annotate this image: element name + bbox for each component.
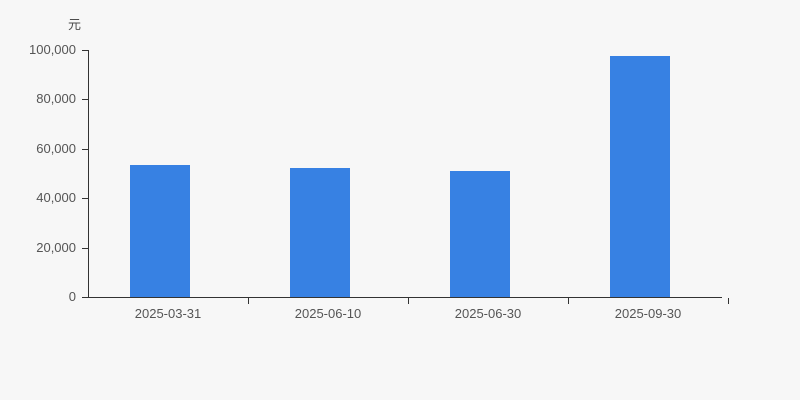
y-axis-tick	[82, 149, 88, 150]
y-axis-tick-label: 100,000	[29, 43, 76, 57]
y-axis-tick	[82, 50, 88, 51]
x-axis-tick	[728, 298, 729, 304]
x-axis-tick-label: 2025-03-31	[88, 306, 248, 322]
y-axis-tick-label: 20,000	[36, 241, 76, 255]
x-axis-tick	[568, 298, 569, 304]
y-axis-tick	[82, 297, 88, 298]
y-axis-line	[88, 50, 89, 298]
bar[interactable]	[450, 171, 510, 297]
bar[interactable]	[610, 56, 670, 297]
x-axis-tick-label: 2025-09-30	[568, 306, 728, 322]
y-axis-tick-label: 0	[69, 290, 76, 304]
bar[interactable]	[130, 165, 190, 297]
x-axis-tick	[408, 298, 409, 304]
y-axis-tick-label: 40,000	[36, 191, 76, 205]
y-axis-tick-label: 80,000	[36, 92, 76, 106]
y-axis-unit-label: 元	[68, 17, 81, 33]
x-axis-tick	[248, 298, 249, 304]
y-axis-tick	[82, 248, 88, 249]
y-axis-tick-label: 60,000	[36, 142, 76, 156]
bar-chart: 元 020,00040,00060,00080,000100,000 2025-…	[0, 0, 800, 400]
x-axis-line	[88, 297, 722, 298]
bar[interactable]	[290, 168, 350, 297]
x-axis-tick-label: 2025-06-10	[248, 306, 408, 322]
y-axis-tick	[82, 99, 88, 100]
y-axis-tick	[82, 198, 88, 199]
x-axis-tick-label: 2025-06-30	[408, 306, 568, 322]
